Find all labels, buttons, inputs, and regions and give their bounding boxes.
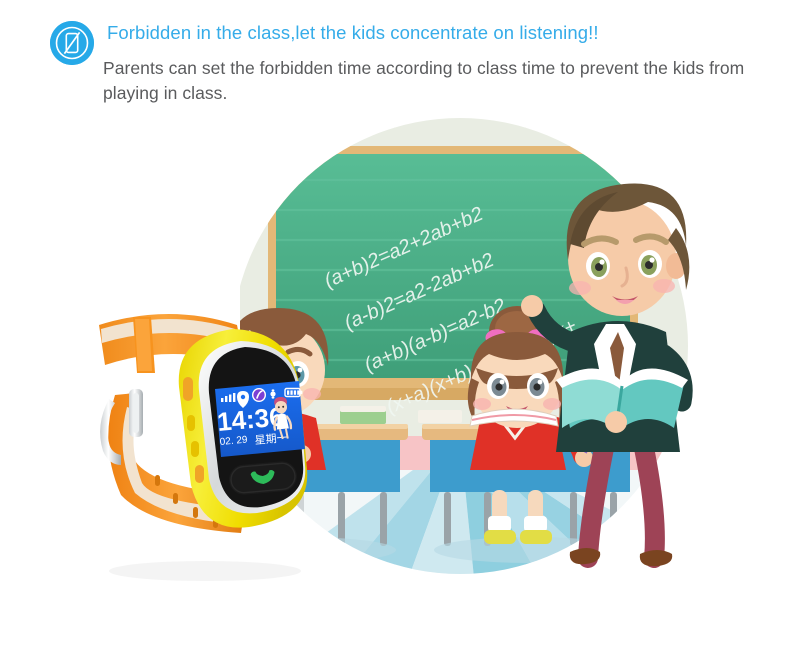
smart-watch-product-image: 14:36 02. 29 星期一 — [55, 285, 355, 585]
watch-reflection — [109, 561, 301, 581]
page-root: Forbidden in the class,let the kids conc… — [0, 0, 790, 666]
app-badge-icon — [252, 388, 266, 402]
body-text: Parents can set the forbidden time accor… — [103, 56, 753, 106]
watch-screen: 14:36 02. 29 星期一 — [215, 381, 305, 457]
teacher-hand — [605, 411, 627, 433]
feature-header: Forbidden in the class,let the kids conc… — [0, 0, 790, 120]
no-phone-icon — [50, 21, 94, 65]
teacher-hand-raised — [521, 295, 543, 317]
headline: Forbidden in the class,let the kids conc… — [107, 21, 747, 45]
white-book — [418, 410, 462, 423]
